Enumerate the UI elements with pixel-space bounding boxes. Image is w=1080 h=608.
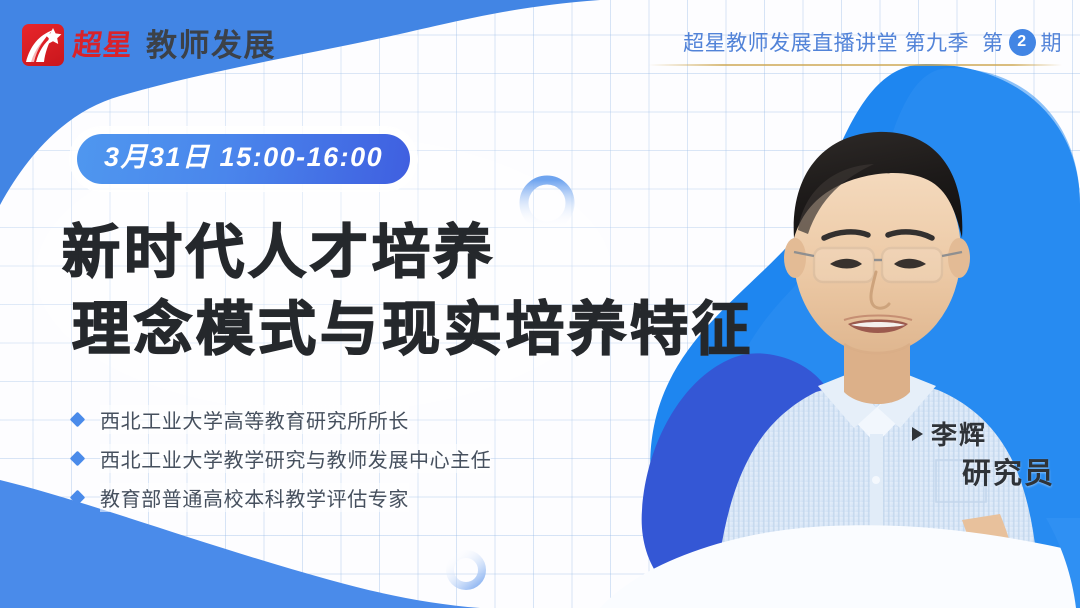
diamond-icon: [70, 490, 86, 506]
poster-canvas: 超星 教师发展 超星教师发展直播讲堂 第九季 第 2 期 3月31日 15:00…: [0, 0, 1080, 608]
chaoxing-logo-icon: [22, 24, 64, 66]
credential-text: 西北工业大学高等教育研究所所长: [100, 405, 409, 434]
ring-decoration-small: [442, 546, 490, 594]
series-info: 超星教师发展直播讲堂 第九季 第 2 期: [683, 27, 1062, 57]
schedule-pill: 3月31日 15:00-16:00: [77, 134, 410, 184]
bottom-right-blue-corner: [950, 518, 1080, 608]
series-title: 超星教师发展直播讲堂 第九季: [683, 27, 969, 57]
brand-logo[interactable]: 超星 教师发展: [22, 24, 276, 66]
speaker-name: 李辉: [931, 415, 987, 452]
list-item: 教育部普通高校本科教学评估专家: [72, 478, 491, 517]
poster-header: 超星 教师发展 超星教师发展直播讲堂 第九季 第 2 期: [0, 0, 1080, 86]
diamond-icon: [70, 451, 86, 467]
credential-text: 教育部普通高校本科教学评估专家: [100, 483, 409, 512]
speaker-role: 研究员: [962, 450, 1055, 492]
play-triangle-icon: [912, 427, 923, 441]
issue-prefix: 第: [982, 27, 1004, 57]
speaker-name-block: 李辉: [912, 415, 987, 452]
credentials-list: 西北工业大学高等教育研究所所长 西北工业大学教学研究与教师发展中心主任 教育部普…: [72, 400, 491, 517]
title-line-1: 新时代人才培养: [62, 214, 754, 291]
title-line-2: 理念模式与现实培养特征: [72, 291, 754, 368]
brand-name-cn: 超星: [71, 31, 134, 60]
page-title: 新时代人才培养 理念模式与现实培养特征: [62, 214, 754, 367]
diamond-icon: [70, 412, 86, 428]
credential-text: 西北工业大学教学研究与教师发展中心主任: [100, 444, 491, 473]
issue-suffix: 期: [1041, 27, 1063, 57]
header-gold-divider: [648, 64, 1062, 66]
list-item: 西北工业大学高等教育研究所所长: [72, 400, 491, 439]
list-item: 西北工业大学教学研究与教师发展中心主任: [72, 439, 491, 478]
issue-number-badge: 2: [1009, 29, 1036, 56]
date-pill-outline: 3月31日 15:00-16:00: [70, 127, 417, 191]
brand-subtitle: 教师发展: [146, 30, 276, 61]
